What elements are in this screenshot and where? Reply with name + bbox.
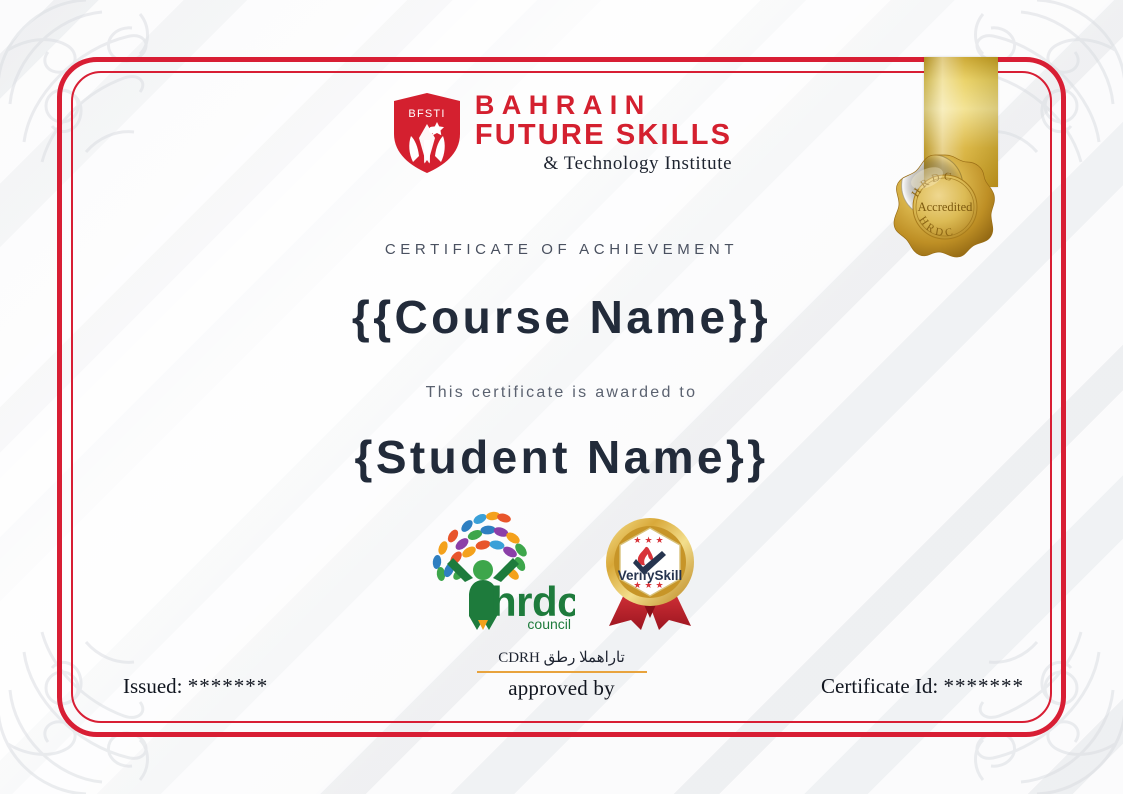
certificate-id-value: ******* — [944, 674, 1025, 698]
issued-value: ******* — [188, 674, 269, 698]
student-name: {Student Name}} — [0, 430, 1123, 484]
svg-text:VerifySkill: VerifySkill — [617, 568, 682, 583]
logo-line-bahrain: BAHRAIN — [475, 92, 652, 120]
approval-arabic-line: تاراهملا رطق HRDC — [498, 648, 625, 667]
issued-label: Issued: — [123, 674, 183, 698]
corner-ornament-icon — [948, 617, 1123, 794]
hrdc-tree-person-logo-icon: hrdc council — [425, 508, 575, 632]
approved-by-label: approved by — [508, 676, 615, 701]
issued-date-field: Issued: ******* — [123, 674, 268, 699]
svg-text:BFSTI: BFSTI — [408, 108, 445, 120]
certificate-document: HRDC HRDC Accredited BFSTI BAHRAIN — [0, 0, 1123, 794]
logo-line-future-skills: FUTURE SKILLS — [475, 120, 732, 150]
shield-with-torch-figure-icon: BFSTI — [391, 92, 463, 174]
svg-text:council: council — [527, 616, 571, 632]
course-name: {{Course Name}} — [0, 290, 1123, 344]
svg-text:HRDC: HRDC — [916, 214, 957, 239]
certificate-id-field: Certificate Id: ******* — [821, 674, 1024, 699]
approval-divider — [477, 671, 647, 673]
svg-text:★★★: ★★★ — [633, 536, 666, 546]
certificate-kicker: CERTIFICATE OF ACHIEVEMENT — [0, 241, 1123, 258]
certificate-id-label: Certificate Id: — [821, 674, 938, 698]
awarded-to-label: This certificate is awarded to — [0, 384, 1123, 402]
institute-logo: BFSTI BAHRAIN FUTURE SKILLS & Technology… — [0, 92, 1123, 175]
verify-skill-rosette-icon: ★★★ ★★★ VerifySkill — [601, 514, 699, 630]
logo-line-technology-institute: & Technology Institute — [543, 153, 732, 175]
corner-ornament-icon — [0, 617, 175, 794]
svg-text:Accredited: Accredited — [918, 200, 974, 214]
badges-row: hrdc council — [0, 508, 1123, 632]
